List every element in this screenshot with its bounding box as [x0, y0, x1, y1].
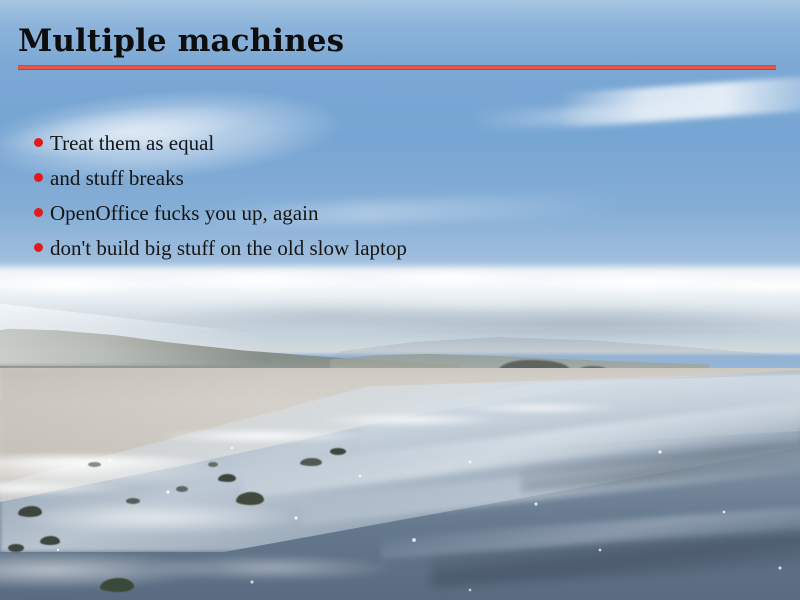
bullet-dot-icon — [34, 208, 43, 217]
bullet-dot-icon — [34, 138, 43, 147]
list-item: OpenOffice fucks you up, again — [34, 200, 764, 235]
bullet-list: Treat them as equal and stuff breaks Ope… — [34, 130, 764, 270]
bullet-text: and stuff breaks — [50, 165, 184, 191]
slide-title: Multiple machines — [18, 23, 344, 59]
title-underline-rule — [18, 65, 776, 70]
bullet-dot-icon — [34, 173, 43, 182]
slide-content: Multiple machines Treat them as equal an… — [0, 0, 800, 600]
list-item: Treat them as equal — [34, 130, 764, 165]
list-item: don't build big stuff on the old slow la… — [34, 235, 764, 270]
bullet-dot-icon — [34, 243, 43, 252]
bullet-text: don't build big stuff on the old slow la… — [50, 235, 407, 261]
presentation-slide: Multiple machines Treat them as equal an… — [0, 0, 800, 600]
list-item: and stuff breaks — [34, 165, 764, 200]
bullet-text: Treat them as equal — [50, 130, 214, 156]
bullet-text: OpenOffice fucks you up, again — [50, 200, 318, 226]
